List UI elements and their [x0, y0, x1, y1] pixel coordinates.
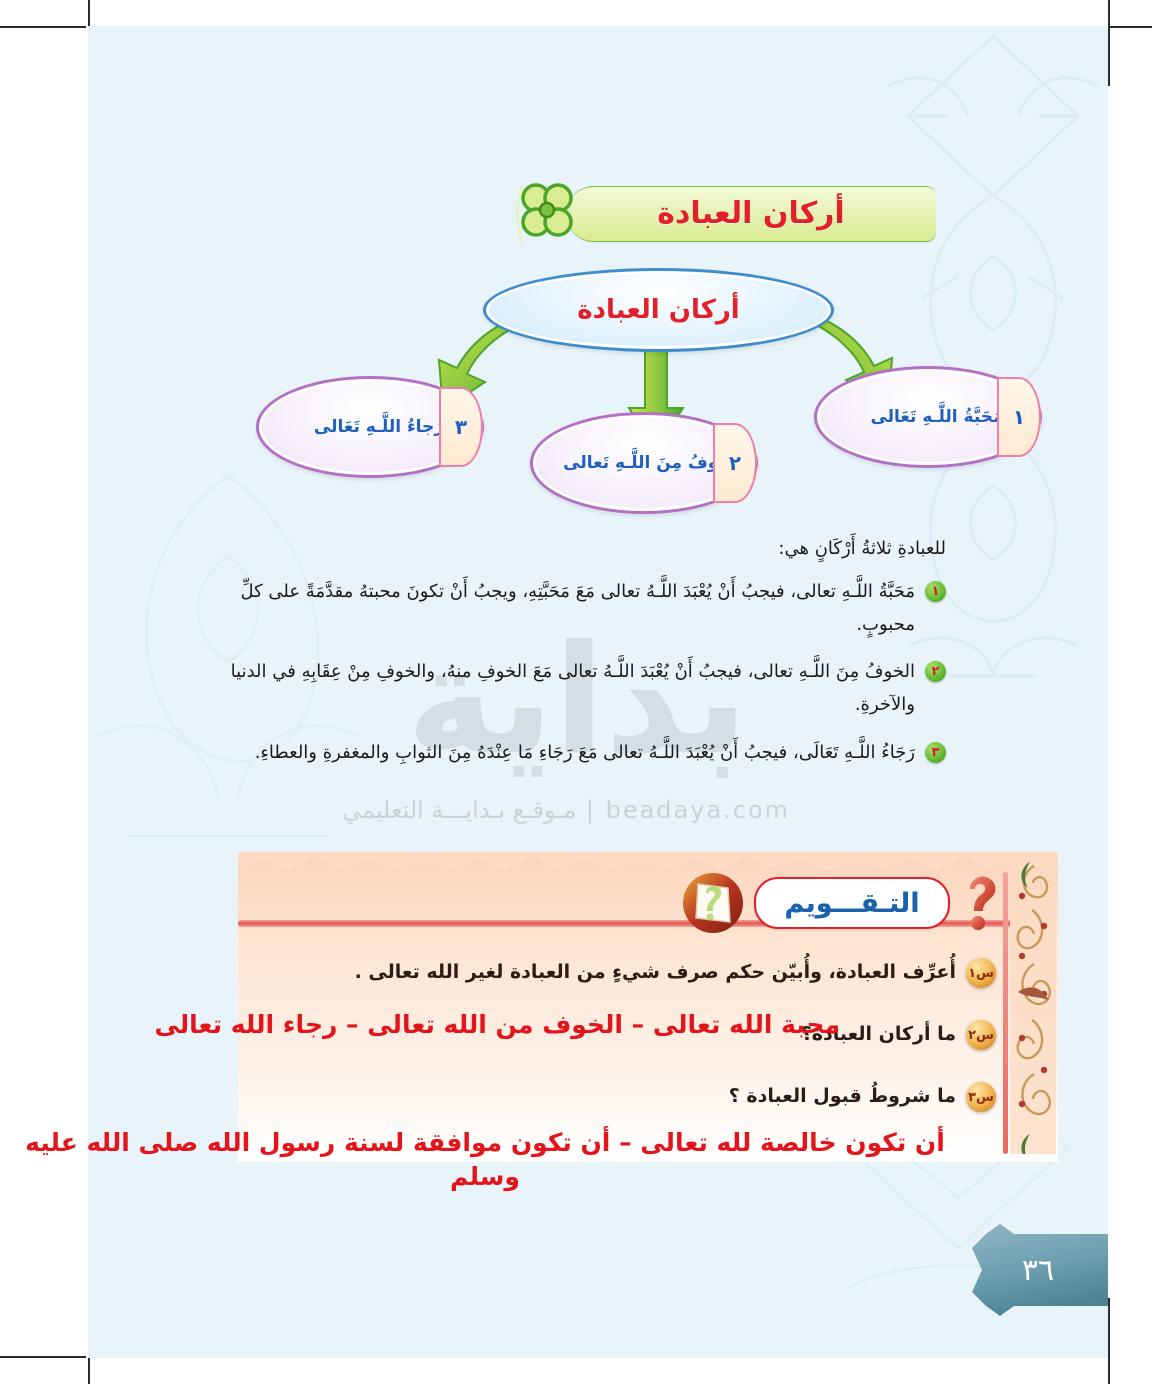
banner-body: أركان العبادة: [566, 186, 936, 242]
list-item: ٣ رَجَاءُ اللَّـهِ تَعَالَى، فيجبُ أَنْ …: [180, 736, 946, 769]
evaluation-side-ribbon: [1010, 852, 1056, 1154]
watermark-url: beadaya.com | مـوقـع بـدايـــة التعليمي: [216, 796, 916, 824]
diagram-node-3: رَجاءُ اللَّـهِ تَعَالى ٣: [256, 376, 484, 478]
flower-ornament-icon: [514, 178, 578, 248]
diagram-node-2: الخوفُ مِنَ اللَّـهِ تَعالى ٢: [530, 412, 758, 514]
evaluation-panel: التـقـــويم س١ أُعرِّف الع: [238, 852, 1058, 1162]
diagram-node-3-number: ٣: [439, 387, 483, 467]
list-item-number-1: ١: [925, 581, 946, 602]
diagram-root-label: أركان العبادة: [577, 295, 739, 325]
list-item: ٢ الخوفُ مِنَ اللَّـهِ تعالى، فيجبُ أَنْ…: [180, 655, 946, 722]
handwritten-answer-3: أن تكون خالصة لله تعالى – أن تكون موافقة…: [20, 1126, 950, 1194]
diagram-node-1-number: ١: [997, 377, 1041, 457]
list-item-text-1: مَحَبَّةُ اللَّـهِ تعالى، فيجبُ أَنْ يُع…: [180, 575, 915, 642]
question-text-1: أُعرِّف العبادة، وأُبيّن حكم صرف شيءٍ من…: [355, 958, 956, 987]
list-item-number-2: ٢: [925, 661, 946, 682]
page-title: أركان العبادة: [657, 199, 844, 229]
list-item-text-3: رَجَاءُ اللَّـهِ تَعَالَى، فيجبُ أَنْ يُ…: [180, 736, 915, 769]
concept-diagram: أركان العبادة مَحَبَّةُ اللَّـهِ تَعَالى…: [238, 264, 1078, 529]
question-mark-icon: [960, 875, 1004, 931]
diagram-node-2-number: ٢: [713, 423, 757, 503]
section-banner: أركان العبادة: [566, 186, 936, 242]
evaluation-header: التـقـــويم: [682, 872, 1006, 934]
question-row-3: س٣ ما شروطُ قبول العبادة ؟: [729, 1082, 996, 1112]
question-badge-1: س١: [966, 958, 996, 988]
question-row-1: س١ أُعرِّف العبادة، وأُبيّن حكم صرف شيءٍ…: [355, 958, 996, 988]
body-intro: للعبادةِ ثلاثةُ أَرْكَانٍ هي:: [180, 534, 946, 565]
diagram-node-3-label: رَجاءُ اللَّـهِ تَعَالى: [314, 417, 444, 437]
question-badge-2: س٢: [966, 1020, 996, 1050]
crop-mark-top-left-h: [0, 26, 86, 28]
handwritten-answer-2: محبة الله تعالى – الخوف من الله تعالى – …: [0, 1008, 840, 1042]
page-number: ٣٦: [968, 1224, 1108, 1316]
evaluation-title-pill: التـقـــويم: [754, 877, 950, 929]
diagram-root-node: أركان العبادة: [483, 268, 834, 352]
question-text-3: ما شروطُ قبول العبادة ؟: [729, 1082, 956, 1111]
evaluation-title: التـقـــويم: [785, 888, 920, 919]
crop-mark-top-right-v: [1108, 0, 1110, 86]
paper-question-icon: [682, 872, 744, 934]
diagram-node-1: مَحَبَّةُ اللَّـهِ تَعَالى ١: [814, 366, 1042, 468]
list-item-number-3: ٣: [925, 742, 946, 763]
question-badge-3: س٣: [966, 1082, 996, 1112]
list-item-text-2: الخوفُ مِنَ اللَّـهِ تعالى، فيجبُ أَنْ ي…: [180, 655, 915, 722]
lesson-body: للعبادةِ ثلاثةُ أَرْكَانٍ هي: ١ مَحَبَّة…: [180, 534, 946, 783]
list-item: ١ مَحَبَّةُ اللَّـهِ تعالى، فيجبُ أَنْ ي…: [180, 575, 946, 642]
crop-mark-bottom-right-v: [1108, 1298, 1110, 1384]
page-number-badge: ٣٦: [968, 1224, 1108, 1316]
diagram-node-1-label: مَحَبَّةُ اللَّـهِ تَعَالى: [870, 407, 1003, 427]
crop-mark-bottom-left-h: [0, 1356, 86, 1358]
